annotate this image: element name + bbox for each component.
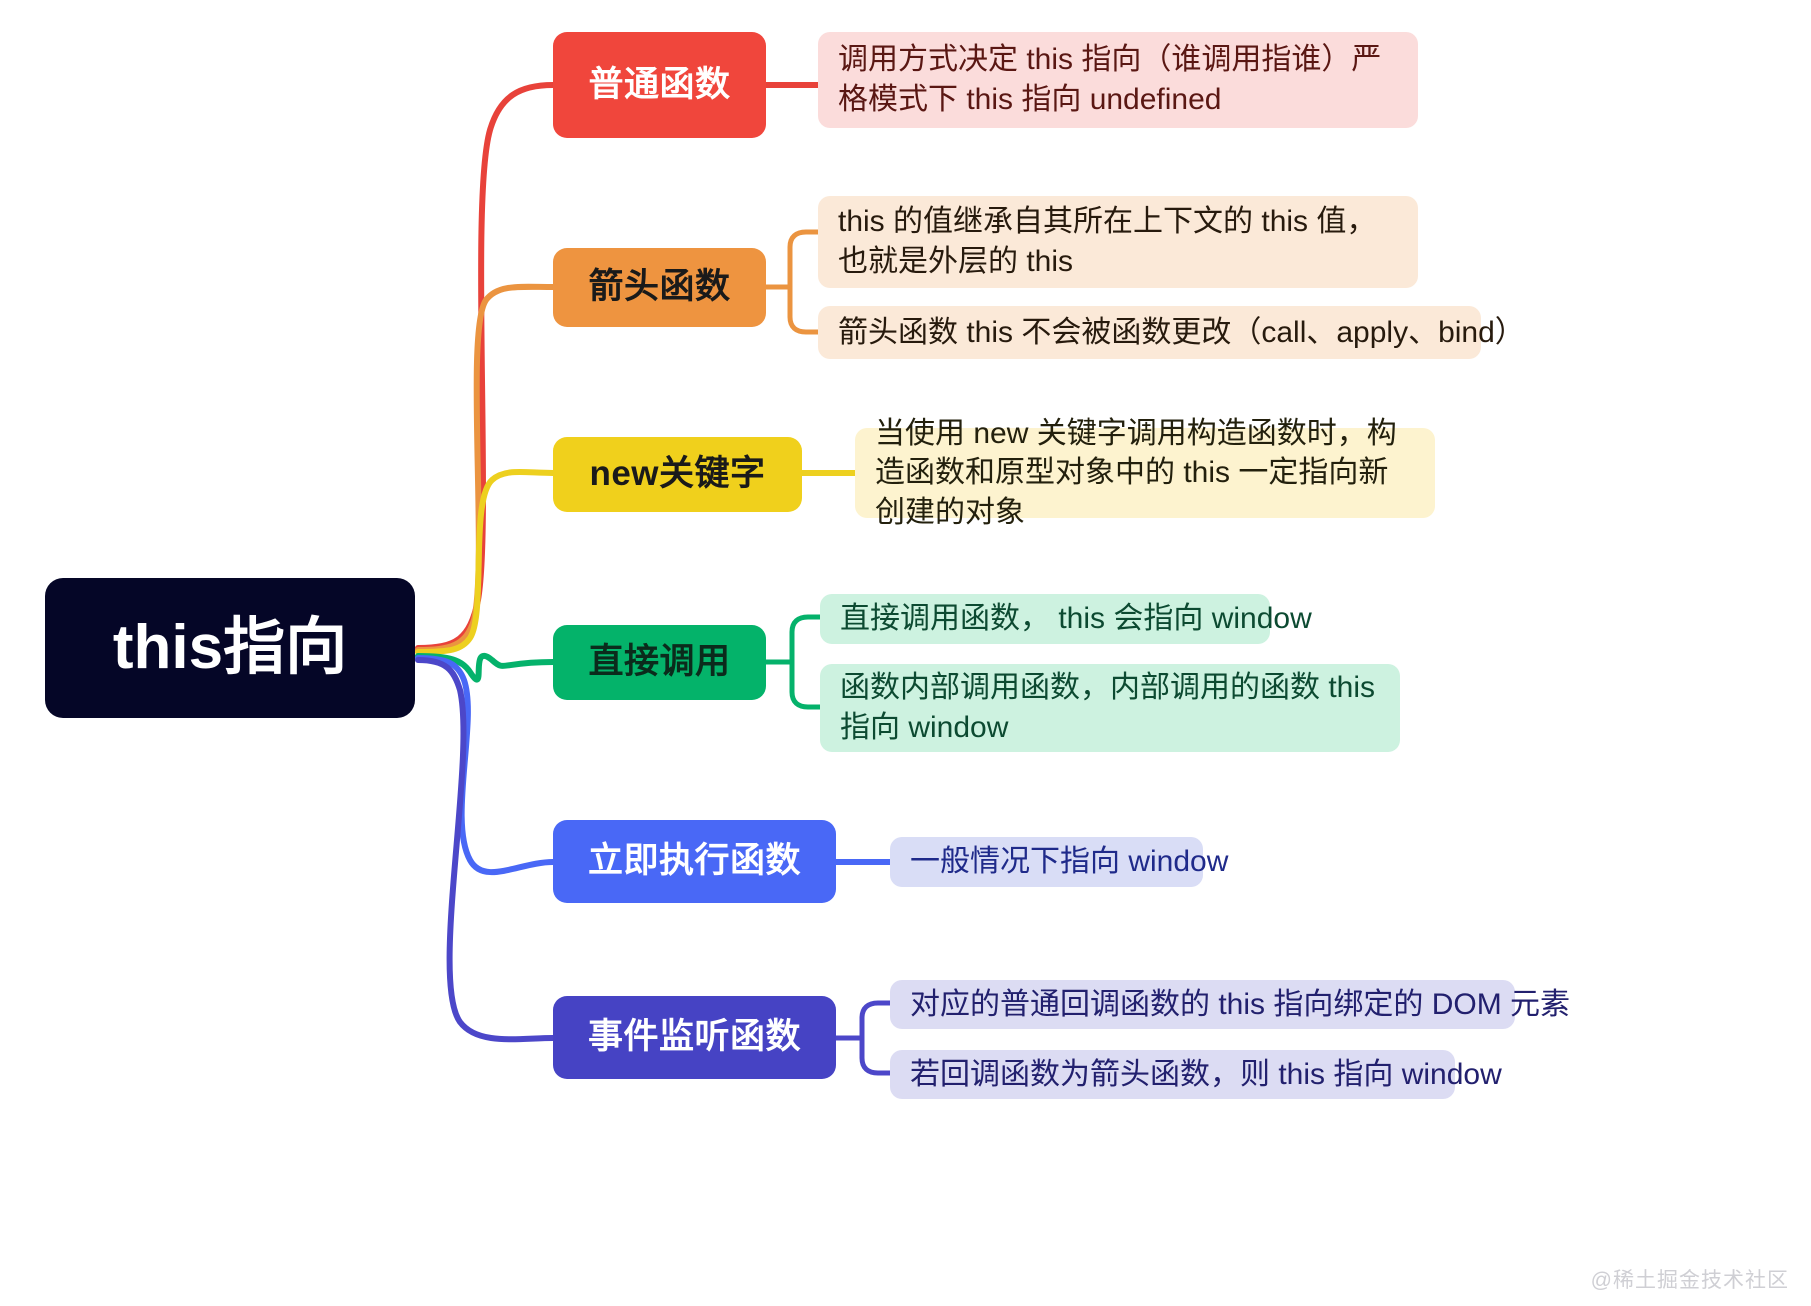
leaf-text-arrow-function-2: 箭头函数 this 不会被函数更改（call、apply、bind） <box>838 313 1525 353</box>
leaf-text-iife-1: 一般情况下指向 window <box>910 842 1228 882</box>
topic-node-ordinary-function[interactable]: 普通函数 <box>553 32 766 138</box>
leaf-arrow-function-2[interactable]: 箭头函数 this 不会被函数更改（call、apply、bind） <box>818 306 1481 359</box>
leaf-iife-1[interactable]: 一般情况下指向 window <box>890 837 1203 887</box>
leaf-event-listener-1[interactable]: 对应的普通回调函数的 this 指向绑定的 DOM 元素 <box>890 980 1515 1029</box>
leaf-text-direct-call-1: 直接调用函数， this 会指向 window <box>840 599 1312 639</box>
topic-node-new-keyword[interactable]: new关键字 <box>553 437 802 512</box>
leaf-text-event-listener-2: 若回调函数为箭头函数，则 this 指向 window <box>910 1055 1502 1095</box>
topic-node-iife[interactable]: 立即执行函数 <box>553 820 836 903</box>
edge-event-listener-leaf-2 <box>862 1038 890 1073</box>
watermark: @稀土掘金技术社区 <box>1591 1264 1789 1294</box>
leaf-text-ordinary-function-1: 调用方式决定 this 指向（谁调用指谁）严格模式下 this 指向 undef… <box>838 40 1398 119</box>
topic-node-arrow-function[interactable]: 箭头函数 <box>553 248 766 327</box>
topic-node-event-listener[interactable]: 事件监听函数 <box>553 996 836 1079</box>
edge-root-to-ordinary-function <box>418 85 553 648</box>
leaf-direct-call-1[interactable]: 直接调用函数， this 会指向 window <box>820 594 1270 644</box>
edge-root-to-direct-call <box>418 656 553 680</box>
leaf-new-keyword-1[interactable]: 当使用 new 关键字调用构造函数时，构造函数和原型对象中的 this 一定指向… <box>855 428 1435 518</box>
edge-direct-call-leaf-2 <box>792 662 820 707</box>
topic-label-new-keyword: new关键字 <box>589 455 765 494</box>
edge-root-to-new-keyword <box>418 472 553 652</box>
edge-root-to-arrow-function <box>418 287 553 650</box>
leaf-text-event-listener-1: 对应的普通回调函数的 this 指向绑定的 DOM 元素 <box>910 985 1570 1025</box>
edge-event-listener-leaf-1 <box>862 1003 890 1038</box>
root-node[interactable]: this指向 <box>45 578 415 718</box>
edge-arrow-function-leaf-1 <box>790 232 818 287</box>
topic-label-direct-call: 直接调用 <box>588 643 730 682</box>
edge-direct-call-leaf-1 <box>792 617 820 662</box>
leaf-arrow-function-1[interactable]: this 的值继承自其所在上下文的 this 值，也就是外层的 this <box>818 196 1418 288</box>
edge-root-to-event-listener <box>418 660 553 1039</box>
leaf-event-listener-2[interactable]: 若回调函数为箭头函数，则 this 指向 window <box>890 1050 1455 1099</box>
leaf-direct-call-2[interactable]: 函数内部调用函数，内部调用的函数 this 指向 window <box>820 664 1400 752</box>
topic-label-ordinary-function: 普通函数 <box>588 66 730 105</box>
root-node-label: this指向 <box>113 617 347 679</box>
edge-arrow-function-leaf-2 <box>790 287 818 332</box>
topic-label-iife: 立即执行函数 <box>588 842 801 881</box>
mindmap-canvas: this指向 普通函数 调用方式决定 this 指向（谁调用指谁）严格模式下 t… <box>0 0 1811 1306</box>
edge-root-to-iife <box>418 658 553 872</box>
leaf-ordinary-function-1[interactable]: 调用方式决定 this 指向（谁调用指谁）严格模式下 this 指向 undef… <box>818 32 1418 128</box>
leaf-text-arrow-function-1: this 的值继承自其所在上下文的 this 值，也就是外层的 this <box>838 202 1398 281</box>
leaf-text-new-keyword-1: 当使用 new 关键字调用构造函数时，构造函数和原型对象中的 this 一定指向… <box>875 414 1415 533</box>
topic-label-event-listener: 事件监听函数 <box>588 1018 801 1057</box>
leaf-text-direct-call-2: 函数内部调用函数，内部调用的函数 this 指向 window <box>840 668 1380 747</box>
topic-label-arrow-function: 箭头函数 <box>588 268 730 307</box>
topic-node-direct-call[interactable]: 直接调用 <box>553 625 766 700</box>
